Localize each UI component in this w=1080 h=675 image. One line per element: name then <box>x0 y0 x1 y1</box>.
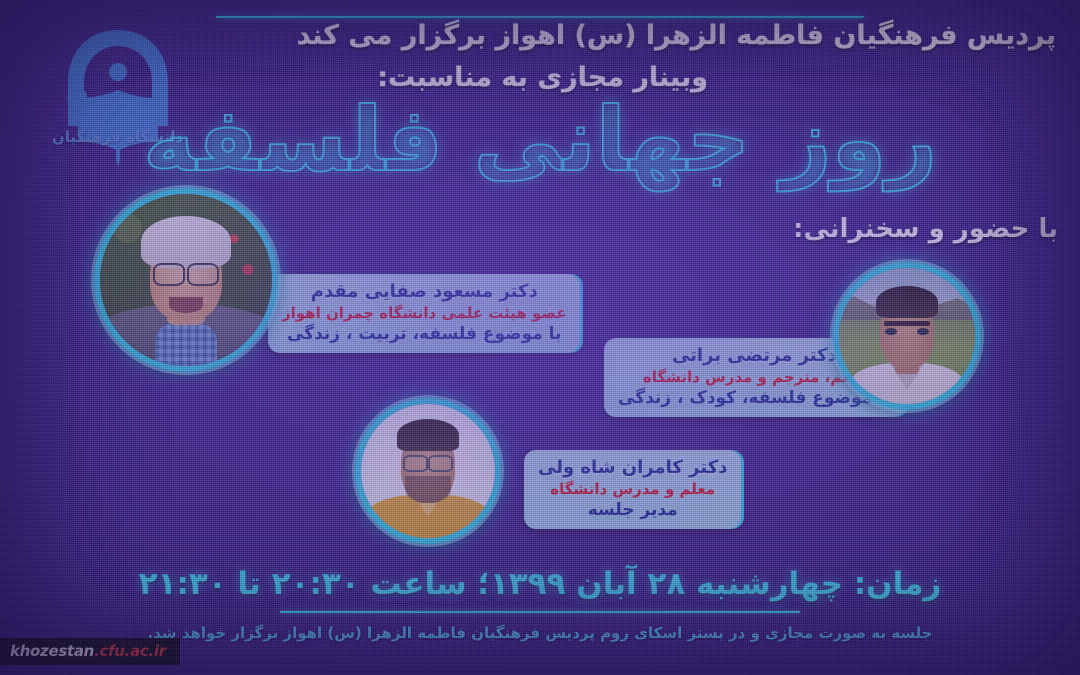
speaker-1-label: دکتر مسعود صفایی مقدم عضو هیئت علمی دانش… <box>268 274 580 353</box>
speaker-3-name: دکتر کامران شاه ولی <box>538 457 727 480</box>
datetime-separator-rule <box>280 611 800 613</box>
header-line-1: پردیس فرهنگیان فاطمه الزهرا (س) اهواز بر… <box>297 20 1056 51</box>
speaker-3-label: دکتر کامران شاه ولی معلم و مدرس دانشگاه … <box>524 450 741 529</box>
speaker-1-name: دکتر مسعود صفایی مقدم <box>282 281 566 304</box>
title-overline-rule <box>216 16 864 18</box>
speakers-lead-label: با حضور و سخنرانی: <box>793 214 1058 244</box>
speaker-1-role: عضو هیئت علمی دانشگاه چمران اهواز <box>282 304 566 324</box>
url-part-domain: .cfu.ac.ir <box>94 642 166 660</box>
website-url-badge[interactable]: khozestan.cfu.ac.ir <box>0 638 180 665</box>
speaker-3-role: معلم و مدرس دانشگاه <box>538 480 727 500</box>
speaker-2-photo <box>833 262 981 410</box>
page-title-text: روز جهانی فلسفه <box>131 96 949 184</box>
speaker-3-photo <box>355 398 501 544</box>
webinar-poster: دانشگاه فرهنگیان پردیس فرهنگیان فاطمه ال… <box>0 0 1080 675</box>
event-datetime: زمان: چهارشنبه ۲۸ آبان ۱۳۹۹؛ ساعت ۲۰:۳۰ … <box>0 566 1080 602</box>
url-part-host: khozestan <box>10 642 94 660</box>
speaker-3-topic: مدیر جلسه <box>538 499 727 521</box>
speaker-1-topic: با موضوع فلسفه، تربیت ، زندگی <box>282 323 566 345</box>
page-title: روز جهانی فلسفه <box>0 96 1080 184</box>
speaker-1-photo <box>94 188 278 372</box>
